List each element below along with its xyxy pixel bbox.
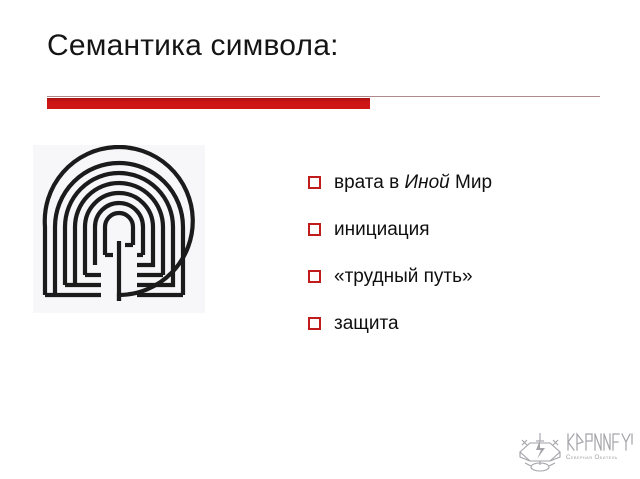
checkbox-square-icon — [308, 270, 321, 283]
list-item: врата в Иной Мир — [308, 170, 608, 217]
list-item-label: инициация — [334, 217, 430, 242]
checkbox-square-icon — [308, 317, 321, 330]
list-item-label: врата в Иной Мир — [334, 170, 492, 195]
watermark-caption: Северная Обитель — [566, 454, 636, 462]
list-item: инициация — [308, 217, 608, 264]
altar-shield-emblem-icon — [516, 428, 564, 474]
title-rule-accent — [47, 98, 370, 109]
title-block: Семантика символа: — [0, 26, 640, 84]
list-item: «трудный путь» — [308, 264, 608, 311]
list-item-text-part: врата в — [334, 172, 405, 193]
bullet-list: врата в Иной Мир инициация «трудный путь… — [308, 170, 608, 358]
checkbox-square-icon — [308, 223, 321, 236]
list-item: защита — [308, 311, 608, 358]
list-item-label: защита — [334, 311, 399, 336]
list-item-text-part: Мир — [450, 172, 492, 193]
list-item-label: «трудный путь» — [334, 264, 473, 289]
runic-wordmark-icon — [566, 431, 634, 453]
slide-canvas: Семантика символа: — [0, 0, 640, 479]
title-rule-thin — [47, 96, 600, 97]
checkbox-square-icon — [308, 176, 321, 189]
watermark-logo: Северная Обитель — [516, 428, 634, 476]
labyrinth-icon — [33, 145, 205, 313]
labyrinth-image — [33, 145, 205, 313]
list-item-text-emphasis: Иной — [405, 172, 450, 193]
page-title: Семантика символа: — [47, 26, 339, 66]
